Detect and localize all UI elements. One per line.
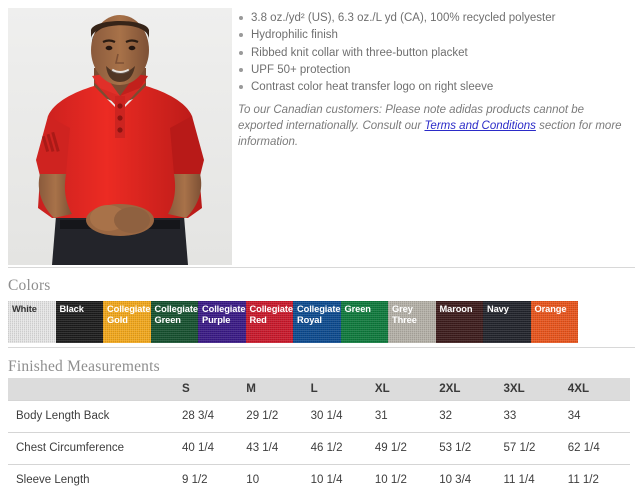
section-divider-measurements [8,347,635,348]
bullet-icon [239,16,243,20]
swatch-label: Green [345,304,387,315]
feature-text: UPF 50+ protection [251,64,350,76]
color-swatch-black[interactable]: Black [56,301,104,343]
swatch-label: Collegiate Purple [202,304,244,326]
color-swatch-collegiate-purple[interactable]: Collegiate Purple [198,301,246,343]
swatch-label: Orange [535,304,577,315]
measurement-cell: 11 1/4 [501,464,565,492]
color-swatch-collegiate-gold[interactable]: Collegiate Gold [103,301,151,343]
table-row: Body Length Back28 3/429 1/230 1/4313233… [8,400,630,432]
swatch-label: White [12,304,54,315]
bullet-icon [239,51,243,55]
measurement-cell: 62 1/4 [566,432,630,464]
canadian-customers-note: To our Canadian customers: Please note a… [238,102,630,151]
feature-text: 3.8 oz./yd² (US), 6.3 oz./L yd (CA), 100… [251,12,555,24]
page-title-measurements: Finished Measurements [8,358,160,376]
list-item: Contrast color heat transfer logo on rig… [238,79,638,96]
product-detail-page: 3.8 oz./yd² (US), 6.3 oz./L yd (CA), 100… [0,0,643,492]
product-photo-illustration [8,8,232,265]
measurement-cell: 53 1/2 [437,432,501,464]
bullet-icon [239,85,243,89]
measurement-cell: 30 1/4 [309,400,373,432]
list-item: Hydrophilic finish [238,27,638,44]
column-header-l: L [309,378,373,400]
feature-text: Contrast color heat transfer logo on rig… [251,81,493,93]
list-item: UPF 50+ protection [238,62,638,79]
product-top-section: 3.8 oz./yd² (US), 6.3 oz./L yd (CA), 100… [0,0,643,267]
measurement-cell: 10 [244,464,308,492]
measurement-cell: 9 1/2 [180,464,244,492]
measurement-cell: 32 [437,400,501,432]
measurement-cell: 57 1/2 [501,432,565,464]
column-header-4xl: 4XL [566,378,630,400]
feature-text: Hydrophilic finish [251,29,338,41]
color-swatch-orange[interactable]: Orange [531,301,579,343]
measurement-cell: 34 [566,400,630,432]
swatch-label: Collegiate Red [250,304,292,326]
swatch-label: Collegiate Gold [107,304,149,326]
page-title-colors: Colors [8,277,51,295]
terms-and-conditions-link[interactable]: Terms and Conditions [424,120,535,132]
table-row: Sleeve Length9 1/21010 1/410 1/210 3/411… [8,464,630,492]
bullet-icon [239,68,243,72]
swatch-label: Navy [487,304,529,315]
color-swatch-grey-three[interactable]: Grey Three [388,301,436,343]
color-swatch-collegiate-red[interactable]: Collegiate Red [246,301,294,343]
measurement-cell: 33 [501,400,565,432]
table-row: Chest Circumference40 1/443 1/446 1/249 … [8,432,630,464]
color-swatch-row: WhiteBlackCollegiate GoldCollegiate Gree… [8,301,578,343]
color-swatch-green[interactable]: Green [341,301,389,343]
measurement-cell: 29 1/2 [244,400,308,432]
column-header-blank [8,378,180,400]
color-swatch-navy[interactable]: Navy [483,301,531,343]
measurement-cell: 10 3/4 [437,464,501,492]
measurement-cell: 40 1/4 [180,432,244,464]
feature-list: 3.8 oz./yd² (US), 6.3 oz./L yd (CA), 100… [238,10,638,96]
table-header: SMLXL2XL3XL4XL [8,378,630,400]
swatch-label: Black [60,304,102,315]
feature-text: Ribbed knit collar with three-button pla… [251,47,468,59]
color-swatch-white[interactable]: White [8,301,56,343]
bullet-icon [239,33,243,37]
row-label: Body Length Back [8,400,180,432]
section-divider-colors [8,267,635,268]
swatch-label: Grey Three [392,304,434,326]
column-header-xl: XL [373,378,437,400]
measurement-cell: 28 3/4 [180,400,244,432]
measurement-cell: 10 1/4 [309,464,373,492]
column-header-3xl: 3XL [501,378,565,400]
color-swatch-collegiate-green[interactable]: Collegiate Green [151,301,199,343]
measurement-cell: 46 1/2 [309,432,373,464]
color-swatch-collegiate-royal[interactable]: Collegiate Royal [293,301,341,343]
table-body: Body Length Back28 3/429 1/230 1/4313233… [8,400,630,492]
measurement-cell: 49 1/2 [373,432,437,464]
product-image[interactable] [8,8,232,265]
table-header-row: SMLXL2XL3XL4XL [8,378,630,400]
column-header-2xl: 2XL [437,378,501,400]
measurement-cell: 43 1/4 [244,432,308,464]
measurement-cell: 31 [373,400,437,432]
swatch-label: Collegiate Green [155,304,197,326]
measurement-cell: 11 1/2 [566,464,630,492]
list-item: Ribbed knit collar with three-button pla… [238,45,638,62]
column-header-s: S [180,378,244,400]
measurement-cell: 10 1/2 [373,464,437,492]
color-swatch-maroon[interactable]: Maroon [436,301,484,343]
swatch-label: Maroon [440,304,482,315]
row-label: Sleeve Length [8,464,180,492]
row-label: Chest Circumference [8,432,180,464]
column-header-m: M [244,378,308,400]
list-item: 3.8 oz./yd² (US), 6.3 oz./L yd (CA), 100… [238,10,638,27]
finished-measurements-table: SMLXL2XL3XL4XL Body Length Back28 3/429 … [8,378,630,492]
swatch-label: Collegiate Royal [297,304,339,326]
